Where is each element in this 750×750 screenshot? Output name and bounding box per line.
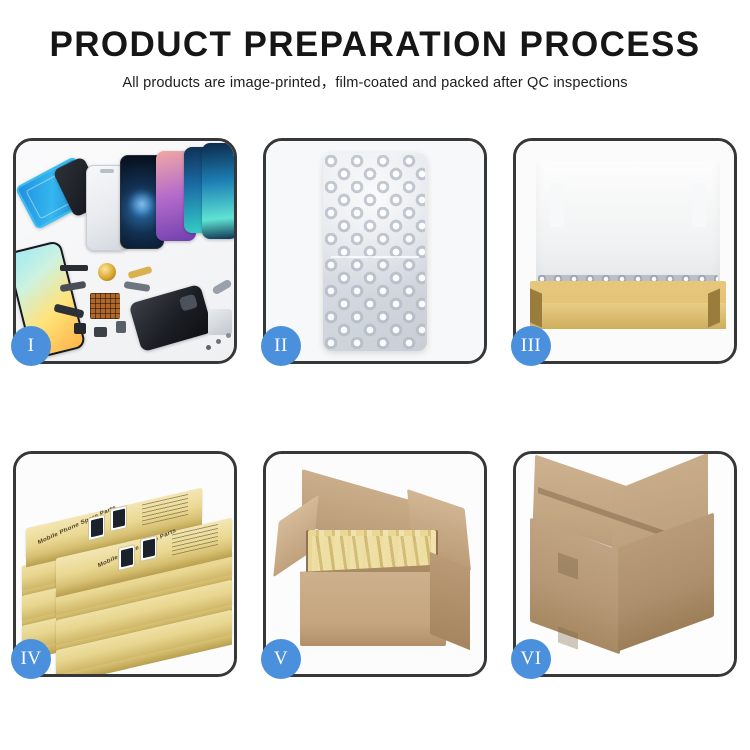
mailer-corner-right bbox=[708, 288, 720, 327]
earpiece-bar-part bbox=[60, 265, 88, 271]
step-panel-6: VI bbox=[513, 451, 737, 677]
chip-part-c bbox=[116, 321, 126, 333]
step-2-image bbox=[266, 141, 484, 361]
step-panel-4: Mobile Phone Spare Parts Mobile Phone Sp… bbox=[13, 451, 237, 677]
infographic-page: PRODUCT PREPARATION PROCESS All products… bbox=[0, 0, 750, 750]
camera-module-part bbox=[211, 279, 232, 296]
box-phone-icon-b1 bbox=[118, 544, 135, 571]
step-3-image bbox=[516, 141, 734, 361]
carton-front-face bbox=[300, 572, 446, 646]
step-panel-3: III bbox=[513, 138, 737, 364]
page-title: PRODUCT PREPARATION PROCESS bbox=[0, 26, 750, 64]
step-badge-1: I bbox=[11, 326, 51, 366]
speaker-coil-part bbox=[98, 263, 116, 281]
chip-part-a bbox=[74, 323, 86, 334]
flex-cable-part-d bbox=[128, 266, 153, 279]
bubble-wrap-texture bbox=[325, 155, 425, 349]
phone-screen-wave bbox=[202, 143, 234, 239]
step-panel-2: II bbox=[263, 138, 487, 364]
bubble-wrap-package bbox=[323, 153, 427, 351]
step-badge-2: II bbox=[261, 326, 301, 366]
repair-tool-part bbox=[208, 309, 232, 335]
step-panel-5: V bbox=[263, 451, 487, 677]
box-phone-icon-a2 bbox=[110, 505, 127, 532]
screw-part-3 bbox=[206, 345, 211, 350]
mailer-lid-tab-right bbox=[692, 183, 706, 227]
step-badge-3: III bbox=[511, 326, 551, 366]
retail-box-stack: Mobile Phone Spare Parts Mobile Phone Sp… bbox=[20, 472, 234, 662]
step-badge-6: VI bbox=[511, 639, 551, 679]
step-1-image bbox=[16, 141, 234, 361]
step-panel-1: I bbox=[13, 138, 237, 364]
box-phone-icon-a1 bbox=[88, 514, 105, 541]
step-5-image bbox=[266, 454, 484, 674]
header: PRODUCT PREPARATION PROCESS All products… bbox=[0, 26, 750, 92]
chip-part-b bbox=[94, 327, 107, 337]
carton-side-face bbox=[430, 552, 470, 650]
step-badge-4: IV bbox=[11, 639, 51, 679]
step-4-image: Mobile Phone Spare Parts Mobile Phone Sp… bbox=[16, 454, 234, 674]
mailer-box-front bbox=[530, 303, 726, 329]
box-spec-text-lines-a bbox=[142, 493, 188, 526]
step-badge-5: V bbox=[261, 639, 301, 679]
step-6-image bbox=[516, 454, 734, 674]
bubble-wrap-seam bbox=[331, 256, 419, 258]
screw-part-1 bbox=[216, 339, 221, 344]
process-steps-grid: I II bbox=[13, 138, 737, 677]
screw-part-2 bbox=[226, 333, 231, 338]
box-phone-icon-b2 bbox=[140, 535, 157, 562]
mailer-corner-left bbox=[530, 288, 542, 327]
page-subtitle: All products are image-printed，film-coat… bbox=[0, 71, 750, 92]
mailer-box-lid bbox=[536, 161, 720, 287]
phone-back-housing bbox=[129, 284, 214, 352]
mailer-lid-tab-left bbox=[550, 183, 564, 227]
flex-cable-part-c bbox=[124, 281, 151, 292]
copper-mesh-part bbox=[90, 293, 120, 319]
